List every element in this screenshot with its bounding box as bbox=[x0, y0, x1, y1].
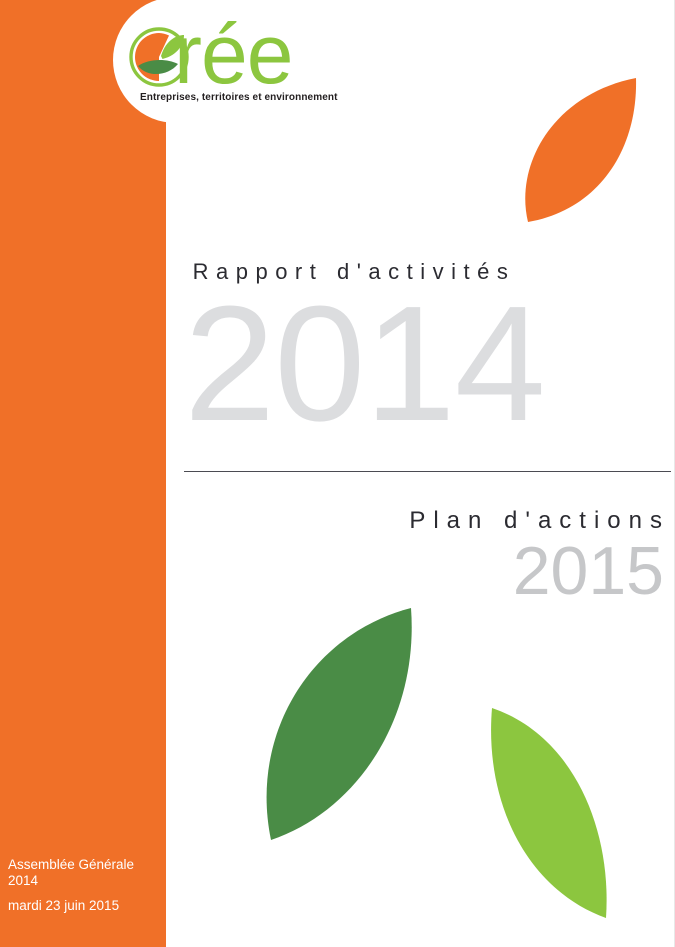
footer-event-name: Assemblée Générale bbox=[8, 857, 160, 873]
plan-title: Plan d'actions bbox=[230, 507, 670, 535]
logo-tagline: Entreprises, territoires et environnemen… bbox=[140, 92, 338, 103]
report-cover-page: rée Entreprises, territoires et environn… bbox=[0, 0, 675, 947]
orange-side-band bbox=[0, 0, 166, 947]
leaf-light-green-bottom-right bbox=[486, 700, 614, 925]
leaf-orange-top-right bbox=[506, 72, 646, 227]
cover-footer: Assemblée Générale 2014 mardi 23 juin 20… bbox=[8, 857, 160, 914]
plan-year: 2015 bbox=[330, 537, 664, 605]
leaf-dark-green-bottom-center bbox=[253, 604, 421, 844]
section-divider bbox=[184, 471, 671, 472]
brand-logo: rée Entreprises, territoires et environn… bbox=[128, 22, 348, 114]
footer-event-year: 2014 bbox=[8, 873, 160, 889]
footer-event-date: mardi 23 juin 2015 bbox=[8, 898, 160, 914]
logo-wordmark: rée bbox=[174, 12, 292, 96]
report-year: 2014 bbox=[184, 282, 536, 446]
